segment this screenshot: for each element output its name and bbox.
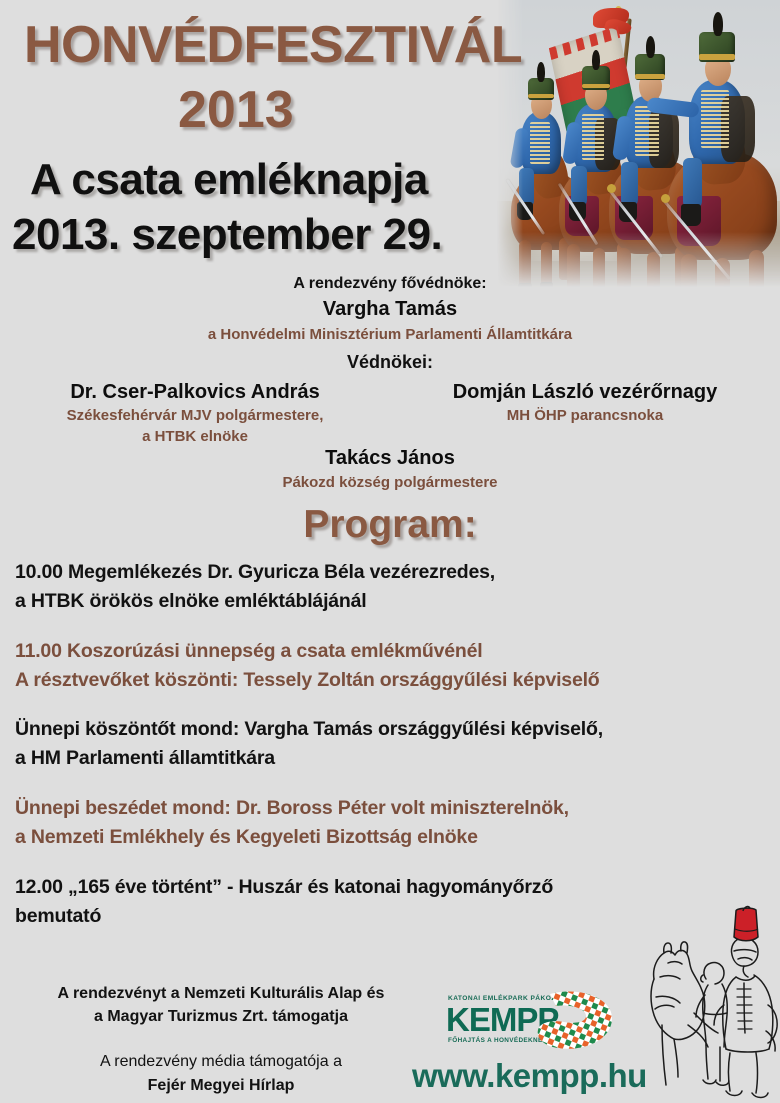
sketch-hussar-head	[731, 938, 758, 966]
media-partner-name: Fejér Megyei Hírlap	[6, 1074, 436, 1097]
sketch-hussar-belt	[726, 1049, 769, 1052]
shako-plume	[537, 62, 545, 82]
sketch-hussar-brow	[734, 950, 756, 952]
rider-braid	[530, 122, 550, 164]
sketch-hussar-chin-strap	[743, 966, 748, 977]
page-title-line2: 2013	[178, 80, 294, 140]
sabre-hilt	[661, 194, 670, 203]
sketch-horse-muzzle	[655, 1005, 674, 1009]
sketch-horse-noseband	[660, 976, 680, 979]
program-item: 10.00 Megemlékezés Dr. Gyuricza Béla vez…	[15, 558, 755, 616]
sketch-child-head	[704, 963, 724, 984]
patron-name: Domján László vezérőrnagy	[390, 378, 780, 406]
program-list: 10.00 Megemlékezés Dr. Gyuricza Béla vez…	[15, 558, 755, 952]
sketch-horse-foreleg	[674, 1039, 678, 1077]
chief-patron-role: a Honvédelmi Minisztérium Parlamenti Áll…	[0, 324, 780, 346]
sketch-shako-red	[734, 907, 758, 941]
page-subtitle-line1: A csata emléknapja	[30, 155, 428, 205]
chief-patron-name: Vargha Tamás	[0, 295, 780, 324]
patron-name: Takács János	[0, 444, 780, 472]
sketch-hussar-leg-right	[756, 1053, 758, 1093]
program-item: Ünnepi beszédet mond: Dr. Boross Péter v…	[15, 794, 755, 852]
sketch-hussar-center-line	[744, 983, 745, 1033]
support-line2: a Magyar Turizmus Zrt. támogatja	[6, 1006, 436, 1029]
hussar-cavalry-photo	[497, 0, 780, 287]
sketch-hussar-boot-right	[752, 1093, 768, 1098]
sketch-hussar-leg-left	[729, 1053, 731, 1091]
sketch-hussar-collar	[736, 976, 755, 980]
sketch-child-foot-right	[716, 1081, 729, 1085]
page-subtitle-line2: 2013. szeptember 29.	[12, 210, 442, 260]
page-title-line1: HONVÉDFESZTIVÁL	[24, 18, 522, 72]
rider-braid	[701, 90, 729, 148]
patron-role-line1: Székesfehérvár MJV polgármestere,	[0, 406, 390, 427]
program-item: 11.00 Koszorúzási ünnepség a csata emlék…	[15, 637, 755, 695]
shako-band	[699, 54, 735, 60]
sketch-horse-cheek	[656, 996, 680, 1003]
program-item-line1: 10.00 Megemlékezés Dr. Gyuricza Béla vez…	[15, 558, 755, 587]
patron-column-2: Domján László vezérőrnagy MH ÖHP parancs…	[390, 378, 780, 447]
program-item-line1: Ünnepi beszédet mond: Dr. Boross Péter v…	[15, 794, 755, 823]
shako-plume	[646, 36, 655, 58]
patron-role: Pákozd község polgármestere	[0, 472, 780, 493]
sketch-child-body-left	[703, 985, 708, 1045]
program-item: 12.00 „165 éve történt” - Huszár és kato…	[15, 873, 755, 931]
chief-patron-block: A rendezvény fővédnöke: Vargha Tamás a H…	[0, 272, 780, 346]
patron-column-1: Dr. Cser-Palkovics András Székesfehérvár…	[0, 378, 390, 447]
support-line1: A rendezvényt a Nemzeti Kulturális Alap …	[6, 983, 436, 1006]
media-partner-label: A rendezvény média támogatója a	[6, 1050, 436, 1073]
program-heading: Program:	[0, 503, 780, 547]
kempp-swoosh-icon	[528, 988, 616, 1054]
sabre-hilt	[607, 184, 616, 193]
shako-band	[635, 74, 665, 79]
shako-band	[582, 84, 610, 88]
program-item-line2: a HM Parlamenti államtitkára	[15, 744, 755, 773]
media-partner-block: A rendezvény média támogatója a Fejér Me…	[6, 1050, 436, 1096]
chief-patron-label: A rendezvény fővédnöke:	[0, 272, 780, 295]
program-item-line2: a HTBK örökös elnöke emléktáblájánál	[15, 587, 755, 616]
program-item-line2: a Nemzeti Emlékhely és Kegyeleti Bizotts…	[15, 823, 755, 852]
sketch-hussar-boot-left	[726, 1091, 742, 1096]
program-item-line1: 11.00 Koszorúzási ünnepség a csata emlék…	[15, 637, 755, 666]
program-item-line2: bemutató	[15, 902, 755, 931]
rider-leg	[683, 158, 702, 210]
sketch-hussar-body-right	[754, 975, 773, 1049]
sketch-horse-brow	[668, 962, 682, 964]
program-item: Ünnepi köszöntőt mond: Vargha Tamás orsz…	[15, 715, 755, 773]
shako-band	[528, 94, 554, 98]
patron-name: Dr. Cser-Palkovics András	[0, 378, 390, 406]
shako-plume	[713, 12, 723, 36]
program-item-line1: Ünnepi köszöntőt mond: Vargha Tamás orsz…	[15, 715, 755, 744]
patron-third-block: Takács János Pákozd község polgármestere	[0, 444, 780, 493]
rider-braid	[635, 106, 659, 156]
support-block: A rendezvényt a Nemzeti Kulturális Alap …	[6, 983, 436, 1097]
sketch-hussar-moustache	[738, 958, 752, 960]
patrons-columns: Dr. Cser-Palkovics András Székesfehérvár…	[0, 378, 780, 447]
sketch-child-foot-left	[703, 1080, 716, 1084]
swoosh-checkered-band	[528, 988, 616, 1054]
program-item-line2: A résztvevőket köszönti: Tessely Zoltán …	[15, 666, 755, 695]
patron-role-line1: MH ÖHP parancsnoka	[390, 406, 780, 427]
patrons-label: Védnökei:	[0, 352, 780, 373]
sketch-child-hair	[701, 975, 703, 982]
rider-braid	[582, 114, 604, 160]
poster-canvas: HONVÉDFESZTIVÁL 2013 A csata emléknapja …	[0, 0, 780, 1103]
kempp-url-text[interactable]: www.kempp.hu	[412, 1057, 647, 1095]
program-item-line1: 12.00 „165 éve történt” - Huszár és kato…	[15, 873, 755, 902]
kempp-logo[interactable]: KATONAI EMLÉKPARK PÁKOZD KEMPP FŐHAJTÁS …	[446, 992, 616, 1054]
hussar-line-drawing	[648, 905, 780, 1103]
sketch-child-leg-left	[706, 1045, 708, 1079]
shako-plume	[592, 50, 600, 70]
